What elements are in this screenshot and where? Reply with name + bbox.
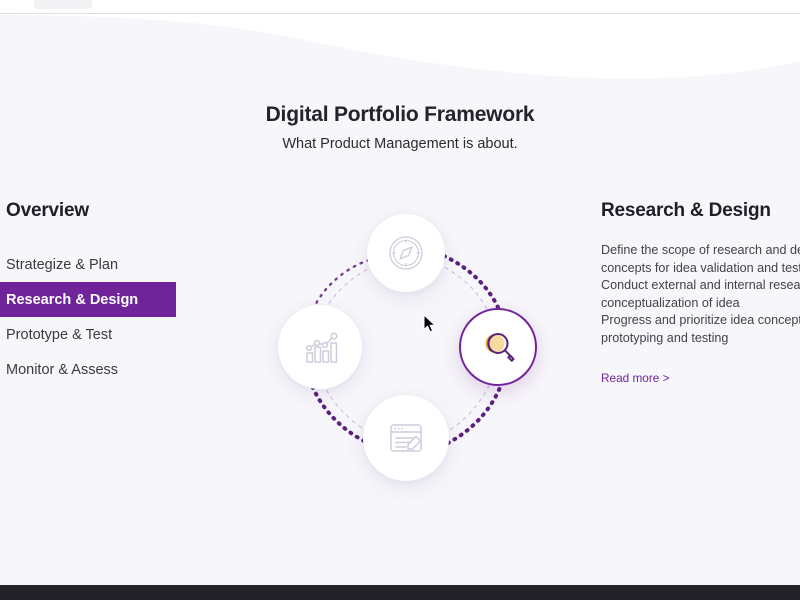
sidebar-item-monitor-assess[interactable]: Monitor & Assess	[0, 352, 176, 387]
detail-body-text: Define the scope of research and design …	[601, 242, 800, 347]
read-more-link[interactable]: Read more >	[601, 371, 670, 385]
page-title: Digital Portfolio Framework	[0, 103, 800, 127]
sidebar-item-strategize-plan[interactable]: Strategize & Plan	[0, 247, 176, 282]
framework-cycle-diagram	[274, 200, 534, 490]
cycle-node-prototype-test[interactable]	[363, 395, 449, 481]
browser-tab[interactable]	[34, 0, 92, 9]
cycle-node-research-design[interactable]	[459, 308, 537, 386]
page-heading: Digital Portfolio Framework What Product…	[0, 103, 800, 152]
magnifier-icon	[476, 325, 520, 369]
detail-title: Research & Design	[601, 200, 800, 222]
browser-chrome	[0, 0, 800, 14]
wireframe-pencil-icon	[384, 416, 428, 460]
sidebar-title: Overview	[0, 200, 250, 222]
cycle-node-monitor-assess[interactable]	[278, 305, 362, 389]
page-subtitle: What Product Management is about.	[0, 136, 800, 152]
bottom-bar	[0, 585, 800, 600]
page-viewport: Digital Portfolio Framework What Product…	[0, 15, 800, 585]
top-wave-decoration	[0, 15, 800, 95]
sidebar-item-prototype-test[interactable]: Prototype & Test	[0, 317, 176, 352]
bar-chart-icon	[298, 325, 342, 369]
cycle-node-strategize-plan[interactable]	[367, 214, 445, 292]
sidebar-item-label: Strategize & Plan	[6, 257, 118, 273]
sidebar-item-research-design[interactable]: Research & Design	[0, 282, 176, 317]
sidebar-item-label: Research & Design	[6, 292, 138, 308]
sidebar-item-label: Prototype & Test	[6, 327, 112, 343]
compass-icon	[386, 233, 426, 273]
sidebar-nav: Strategize & Plan Research & Design Prot…	[0, 247, 250, 387]
chrome-divider	[0, 13, 800, 14]
detail-panel: Research & Design Define the scope of re…	[601, 200, 800, 387]
sidebar: Overview Strategize & Plan Research & De…	[0, 200, 250, 387]
sidebar-item-label: Monitor & Assess	[6, 362, 118, 378]
